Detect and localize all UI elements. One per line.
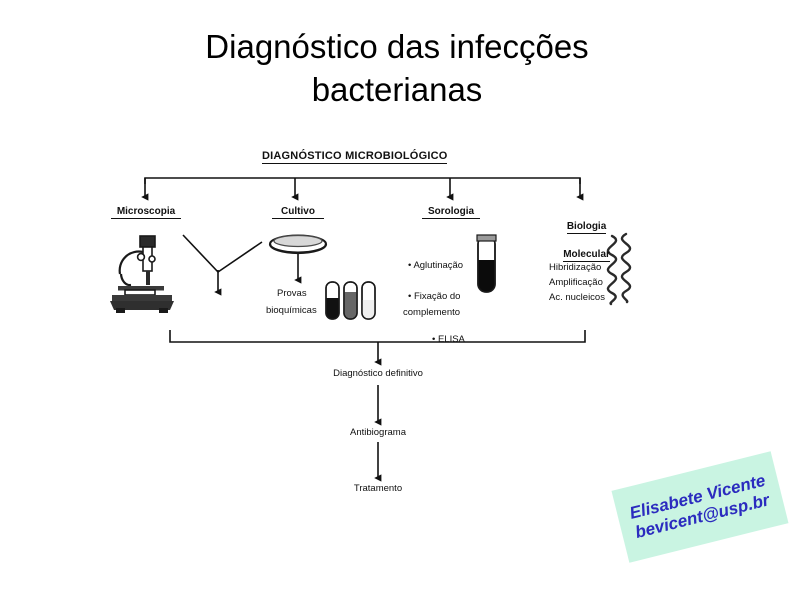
branch-label-molecular: Molecular xyxy=(563,248,610,263)
cultivo-item-2: bioquímicas xyxy=(266,305,317,316)
flow-step-antibiograma: Antibiograma xyxy=(323,427,433,438)
flowchart-connectors xyxy=(0,140,794,510)
diagram-header: DIAGNÓSTICO MICROBIOLÓGICO xyxy=(262,150,447,164)
flow-step-diagnostico-definitivo: Diagnóstico definitivo xyxy=(308,368,448,379)
sorologia-item-1: • Aglutinação xyxy=(408,260,463,271)
sorologia-item-4: • ELISA xyxy=(432,334,465,345)
branch-label-cultivo: Cultivo xyxy=(272,206,324,219)
sorologia-item-2: • Fixação do xyxy=(408,291,460,302)
sorologia-item-3: complemento xyxy=(403,307,460,318)
branch-label-biologia: Biologia xyxy=(567,220,606,235)
cultivo-item-1: Provas xyxy=(277,288,307,299)
page-title: Diagnóstico das infecções bacterianas xyxy=(0,26,794,112)
microscope-icon xyxy=(110,236,174,313)
biologia-molecular-item-2: Amplificação xyxy=(549,277,603,288)
petri-dish-icon xyxy=(270,236,326,254)
flow-step-tratamento: Tratamento xyxy=(328,483,428,494)
biologia-molecular-item-1: Hibridização xyxy=(549,262,601,273)
diagnostic-flowchart: DIAGNÓSTICO MICROBIOLÓGICO Microscopia C… xyxy=(0,140,794,510)
test-tube-icon xyxy=(477,235,496,293)
biologia-molecular-item-3: Ac. nucleicos xyxy=(549,292,605,303)
branch-label-microscopia: Microscopia xyxy=(111,206,181,219)
test-tubes-icon xyxy=(326,282,375,320)
page-title-line-2: bacterianas xyxy=(0,69,794,112)
branch-label-sorologia: Sorologia xyxy=(422,206,480,219)
page-title-line-1: Diagnóstico das infecções xyxy=(0,26,794,69)
